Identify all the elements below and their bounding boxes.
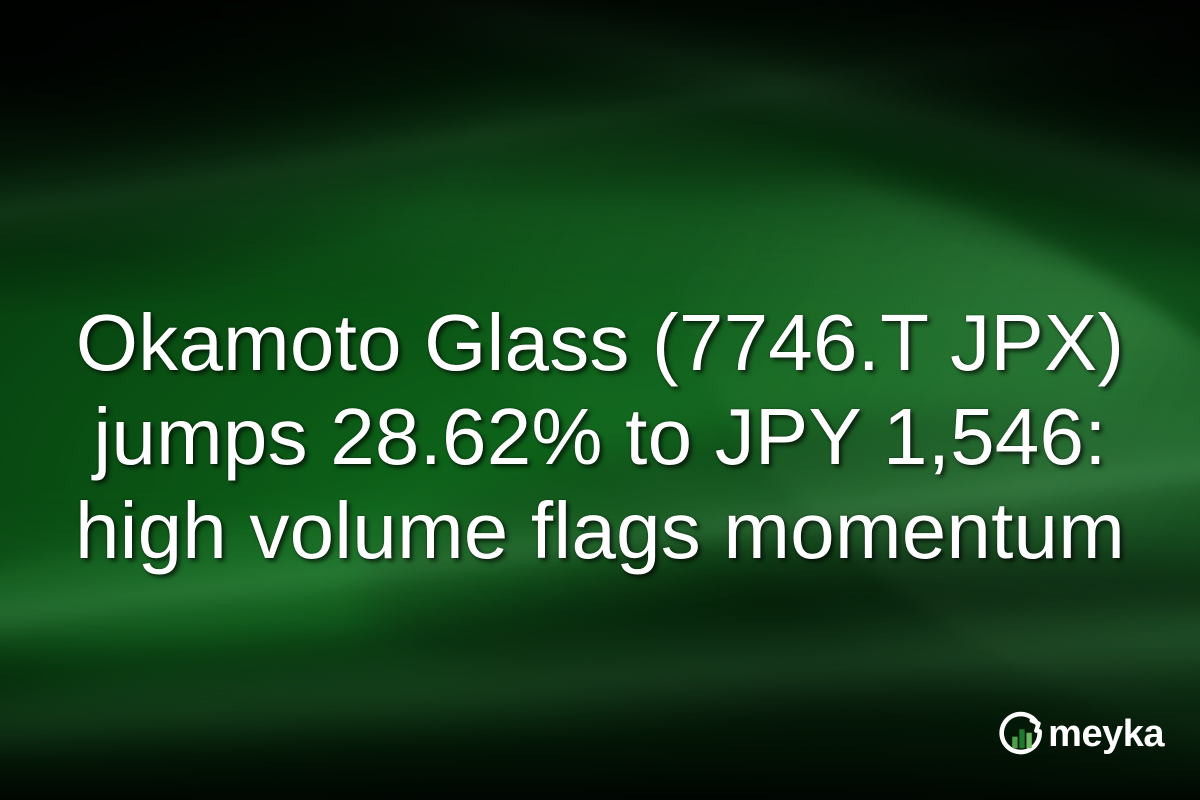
meyka-wordmark: meyka xyxy=(1048,715,1164,756)
background-light-streak xyxy=(0,561,1200,796)
background-light-streak xyxy=(0,0,1200,294)
meyka-bar-chart-ring-icon xyxy=(998,711,1046,759)
meyka-logo[interactable]: meyka xyxy=(998,710,1164,760)
background-light-streak xyxy=(0,0,1200,314)
news-card: Okamoto Glass (7746.T JPX) jumps 28.62% … xyxy=(0,0,1200,800)
headline-text: Okamoto Glass (7746.T JPX) jumps 28.62% … xyxy=(0,296,1200,578)
